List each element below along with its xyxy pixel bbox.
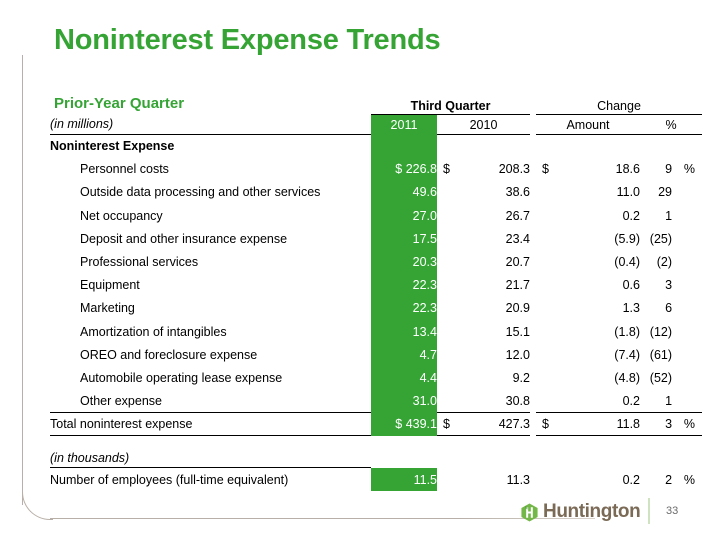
cell-percent: 1 (640, 204, 702, 227)
spacer-cell (536, 436, 640, 449)
row-label: Other expense (50, 390, 371, 413)
cell-2011: 17.5 (371, 227, 437, 250)
table-column-header-row: (in millions)20112010Amount% (50, 115, 702, 135)
cell-2011: $ 226.8 (371, 158, 437, 181)
cell-amount: 0.6 (536, 274, 640, 297)
group-header-third-quarter: Third Quarter (371, 97, 530, 115)
table-group-header-row: Third QuarterChange (50, 97, 702, 115)
cell-2010: 15.1 (437, 320, 530, 343)
row-label: Outside data processing and other servic… (50, 181, 371, 204)
row-label: Amortization of intangibles (50, 320, 371, 343)
cell-2010: 20.9 (437, 297, 530, 320)
cell-2010: 20.7 (437, 250, 530, 273)
table-employees-row: Number of employees (full-time equivalen… (50, 468, 702, 491)
u-blank-amount (536, 449, 640, 468)
cell-amount: (5.9) (536, 227, 640, 250)
blank-2010 (437, 135, 530, 158)
total-2010: 427.3 (437, 413, 530, 436)
cell-percent: (25) (640, 227, 702, 250)
spacer-cell (50, 436, 371, 449)
total-percent: 3 (640, 413, 702, 436)
cell-amount: 0.2 (536, 204, 640, 227)
u-blank-2011 (371, 449, 437, 468)
column-header-percent: % (640, 115, 702, 135)
employees-label: Number of employees (full-time equivalen… (50, 468, 371, 491)
u-blank-percent (640, 449, 702, 468)
expense-data-table: Third QuarterChange(in millions)20112010… (50, 97, 702, 491)
brand-name: Huntington (543, 501, 640, 523)
u-blank-2010 (437, 449, 530, 468)
cell-percent: (61) (640, 343, 702, 366)
employees-2011: 11.5 (371, 468, 437, 491)
group-header-blank (50, 97, 371, 115)
employees-2010: 11.3 (437, 468, 530, 491)
cell-2011: 49.6 (371, 181, 437, 204)
total-2011: $ 439.1 (371, 413, 437, 436)
huntington-hex-logo-icon (520, 503, 539, 522)
group-header-change: Change (536, 97, 702, 115)
cell-percent: 1 (640, 390, 702, 413)
cell-2011: 27.0 (371, 204, 437, 227)
rail-corner-curve (22, 489, 53, 520)
row-label: Automobile operating lease expense (50, 366, 371, 389)
blank-percent (640, 135, 702, 158)
cell-2010: 26.7 (437, 204, 530, 227)
brand-logo: Huntington (520, 501, 640, 523)
cell-percent: 29 (640, 181, 702, 204)
table-row: Amortization of intangibles13.415.1(1.8)… (50, 320, 702, 343)
cell-amount: (0.4) (536, 250, 640, 273)
cell-percent: (52) (640, 366, 702, 389)
green-band-cell (371, 135, 437, 158)
cell-percent: (12) (640, 320, 702, 343)
spacer-cell (437, 436, 530, 449)
table-row: Personnel costs$ 226.8208.318.69 (50, 158, 702, 181)
footer-separator (648, 498, 650, 524)
cell-2010: 21.7 (437, 274, 530, 297)
employees-percent: 2 (640, 468, 702, 491)
table-row: Other expense31.030.80.21 (50, 390, 702, 413)
cell-2010: 12.0 (437, 343, 530, 366)
cell-2010: 38.6 (437, 181, 530, 204)
left-decorative-rail (22, 55, 23, 505)
total-amount: 11.8 (536, 413, 640, 436)
column-header-2010: 2010 (437, 115, 530, 135)
table-row: Outside data processing and other servic… (50, 181, 702, 204)
cell-2011: 4.4 (371, 366, 437, 389)
cell-2010: 9.2 (437, 366, 530, 389)
blank-amount (536, 135, 640, 158)
table-row: OREO and foreclosure expense4.712.0(7.4)… (50, 343, 702, 366)
units-millions-label: (in millions) (50, 115, 371, 135)
column-header-2011: 2011 (371, 115, 437, 135)
row-label: Net occupancy (50, 204, 371, 227)
cell-amount: (1.8) (536, 320, 640, 343)
spacer-cell (640, 436, 702, 449)
cell-amount: 1.3 (536, 297, 640, 320)
table-row: Deposit and other insurance expense17.52… (50, 227, 702, 250)
table-row: Marketing22.320.91.36 (50, 297, 702, 320)
table-section-title-row: Noninterest Expense (50, 135, 702, 158)
table-units-thousands-row: (in thousands) (50, 449, 702, 468)
cell-2010: 30.8 (437, 390, 530, 413)
page-number: 33 (666, 505, 678, 517)
cell-2010: 23.4 (437, 227, 530, 250)
cell-percent: 3 (640, 274, 702, 297)
total-label: Total noninterest expense (50, 413, 371, 436)
cell-amount: 18.6 (536, 158, 640, 181)
column-header-amount: Amount (536, 115, 640, 135)
table-row: Professional services20.320.7(0.4)(2) (50, 250, 702, 273)
section-title-noninterest-expense: Noninterest Expense (50, 135, 371, 158)
footer-divider-line (50, 518, 595, 519)
table-spacer-row (50, 436, 702, 449)
table-row: Equipment22.321.70.63 (50, 274, 702, 297)
row-label: Marketing (50, 297, 371, 320)
table-body: Third QuarterChange(in millions)20112010… (50, 97, 702, 491)
employees-amount: 0.2 (536, 468, 640, 491)
cell-amount: 0.2 (536, 390, 640, 413)
spacer-cell (371, 436, 437, 449)
cell-amount: (4.8) (536, 366, 640, 389)
cell-2011: 31.0 (371, 390, 437, 413)
table-row: Net occupancy27.026.70.21 (50, 204, 702, 227)
table-row: Automobile operating lease expense4.49.2… (50, 366, 702, 389)
cell-2011: 4.7 (371, 343, 437, 366)
units-thousands-label: (in thousands) (50, 449, 371, 468)
cell-2011: 22.3 (371, 274, 437, 297)
cell-2011: 20.3 (371, 250, 437, 273)
cell-amount: (7.4) (536, 343, 640, 366)
table-total-row: Total noninterest expense$ 439.1427.311.… (50, 413, 702, 436)
cell-2011: 13.4 (371, 320, 437, 343)
page-title: Noninterest Expense Trends (54, 24, 440, 57)
cell-percent: (2) (640, 250, 702, 273)
row-label: OREO and foreclosure expense (50, 343, 371, 366)
row-label: Personnel costs (50, 158, 371, 181)
cell-amount: 11.0 (536, 181, 640, 204)
noninterest-expense-table: Third QuarterChange(in millions)20112010… (50, 97, 702, 491)
cell-2010: 208.3 (437, 158, 530, 181)
cell-2011: 22.3 (371, 297, 437, 320)
cell-percent: 6 (640, 297, 702, 320)
row-label: Equipment (50, 274, 371, 297)
cell-percent: 9 (640, 158, 702, 181)
row-label: Professional services (50, 250, 371, 273)
row-label: Deposit and other insurance expense (50, 227, 371, 250)
